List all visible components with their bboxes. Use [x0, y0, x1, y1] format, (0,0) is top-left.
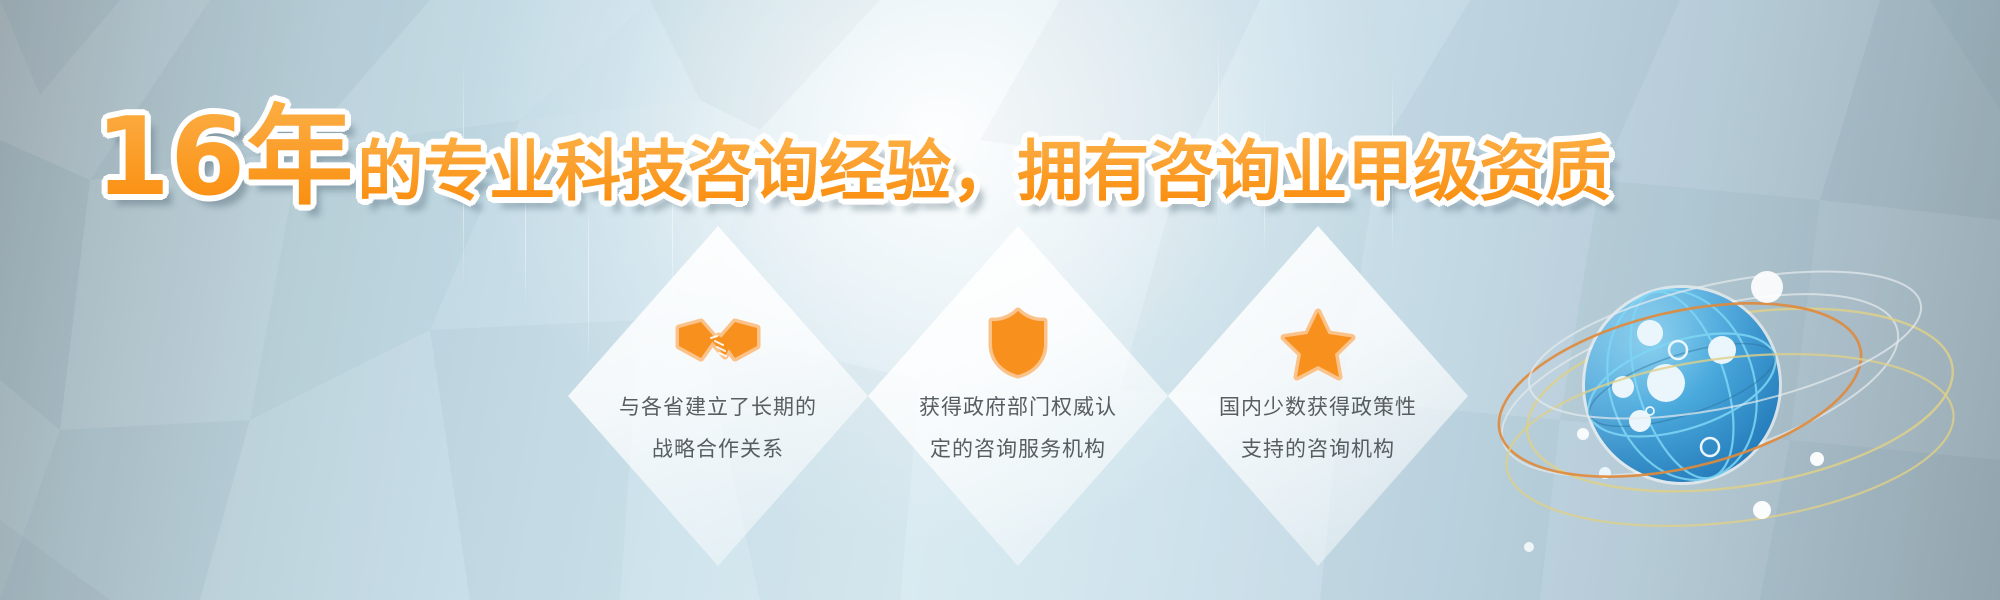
feature-caption-line1: 获得政府部门权威认	[868, 386, 1168, 428]
feature-caption-line2: 定的咨询服务机构	[868, 428, 1168, 470]
star-icon	[1168, 310, 1468, 376]
shield-icon	[868, 310, 1168, 376]
headline-number-wrap: 16年 16年	[95, 104, 353, 212]
globe-icon	[1576, 270, 1788, 499]
promo-banner: 16年 16年 的专业科技咨询经验，拥有咨询业甲级资质 的专业科技咨询经验，拥有…	[0, 0, 2000, 600]
feature-caption: 获得政府部门权威认 定的咨询服务机构	[868, 386, 1168, 470]
globe-orbit-graphic	[1490, 225, 1970, 575]
headline: 16年 16年 的专业科技咨询经验，拥有咨询业甲级资质 的专业科技咨询经验，拥有…	[95, 104, 1611, 212]
headline-rest: 的专业科技咨询经验，拥有咨询业甲级资质	[357, 133, 1611, 210]
feature-card-authority[interactable]: 获得政府部门权威认 定的咨询服务机构	[868, 226, 1168, 566]
feature-caption: 国内少数获得政策性 支持的咨询机构	[1168, 386, 1468, 470]
feature-card-policy[interactable]: 国内少数获得政策性 支持的咨询机构	[1168, 226, 1468, 566]
feature-caption-line1: 与各省建立了长期的	[568, 386, 868, 428]
feature-list: 与各省建立了长期的 战略合作关系 获得政府部门权威认 定的咨询服务机构	[568, 226, 1468, 566]
feature-caption-line2: 战略合作关系	[568, 428, 868, 470]
feature-caption: 与各省建立了长期的 战略合作关系	[568, 386, 868, 470]
headline-rest-wrap: 的专业科技咨询经验，拥有咨询业甲级资质 的专业科技咨询经验，拥有咨询业甲级资质	[357, 139, 1611, 205]
feature-card-partnership[interactable]: 与各省建立了长期的 战略合作关系	[568, 226, 868, 566]
handshake-icon	[568, 310, 868, 376]
feature-caption-line2: 支持的咨询机构	[1168, 428, 1468, 470]
headline-number: 16年	[95, 95, 353, 220]
feature-caption-line1: 国内少数获得政策性	[1168, 386, 1468, 428]
